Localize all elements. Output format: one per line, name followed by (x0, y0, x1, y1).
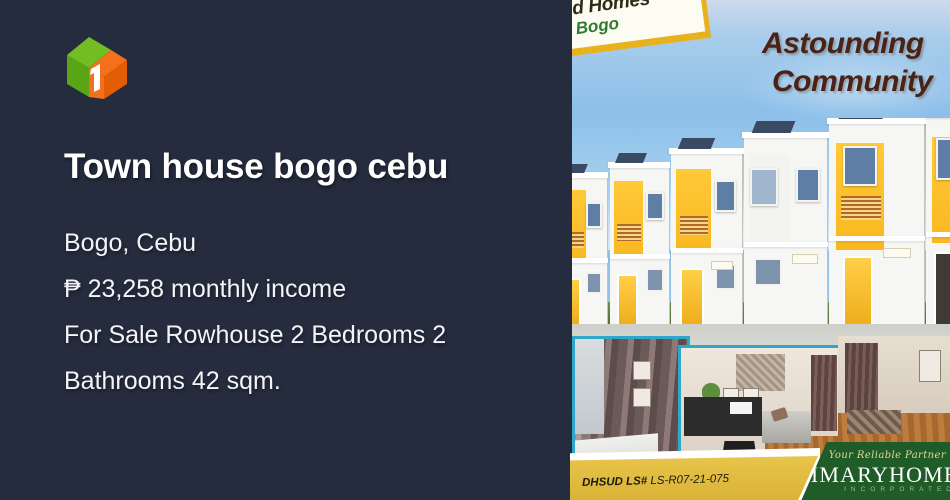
developer-banner: DHSUD LS# LS-R07-21-075 Your Reliable Pa… (570, 442, 950, 500)
signage-plate (792, 254, 818, 264)
townhouse-unit (744, 132, 828, 324)
page-title: Town house bogo cebu (64, 146, 564, 188)
property-listing-card: Town house bogo cebu Bogo, Cebu ₱ 23,258… (0, 0, 950, 500)
developer-suffix: INCORPORATED (844, 486, 950, 493)
signage-plate (711, 261, 733, 270)
license-number: LS-R07-21-075 (650, 473, 729, 487)
headline-line-1: Astounding (762, 27, 924, 60)
townhouse-unit (829, 118, 925, 324)
townhouse-row-photo (570, 118, 950, 350)
house-logo-icon (64, 33, 134, 101)
photo-headline: Astounding Community (762, 25, 933, 101)
townhouse-unit (926, 118, 950, 324)
listing-info-panel: Town house bogo cebu Bogo, Cebu ₱ 23,258… (0, 0, 572, 500)
project-name-sub: Bogo (575, 14, 621, 39)
interior-photo-dining (838, 336, 950, 456)
listing-location: Bogo, Cebu (64, 220, 544, 266)
license-label: DHSUD LS# (582, 475, 647, 489)
listing-meta: Bogo, Cebu ₱ 23,258 monthly income For S… (64, 220, 544, 404)
headline-line-2: Community (762, 63, 933, 101)
townhouse-unit (610, 162, 670, 324)
developer-tagline: Your Reliable Partner (829, 450, 946, 461)
listing-description: For Sale Rowhouse 2 Bedrooms 2 Bathrooms… (64, 312, 544, 404)
listing-price: ₱ 23,258 monthly income (64, 266, 544, 312)
property-photo-panel: Astounding Community wood Homes Bogo (570, 0, 950, 500)
townhouse-unit (570, 172, 608, 324)
signage-plate (883, 248, 911, 258)
townhouse-unit (671, 148, 743, 324)
